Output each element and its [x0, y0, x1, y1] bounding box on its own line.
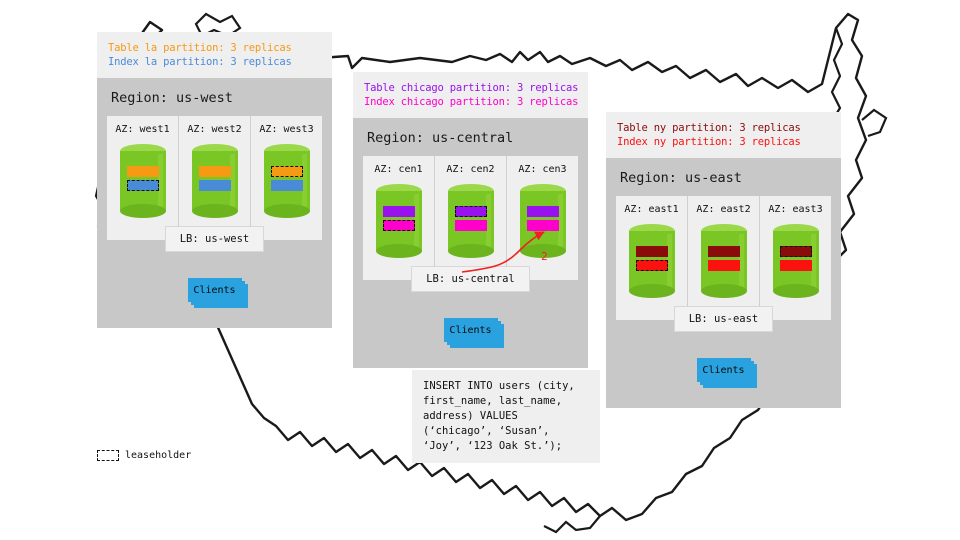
- replica-bar-table: [127, 166, 159, 177]
- replica-bar-index: [527, 220, 559, 231]
- az-label: AZ: east1: [624, 204, 678, 215]
- region-title: Region: us-east: [606, 158, 841, 196]
- replica-bar-index-leaseholder: [636, 260, 668, 271]
- region-body-us-west: Region: us-west AZ: west1 AZ: west2: [97, 78, 332, 328]
- cylinder-bottom: [629, 284, 675, 298]
- table-partition-line: Table chicago partition: 3 replicas: [364, 81, 577, 95]
- az-label: AZ: west1: [115, 124, 169, 135]
- az-cell-cen1[interactable]: AZ: cen1: [363, 156, 434, 280]
- cylinder-bottom: [773, 284, 819, 298]
- partition-header-us-east: Table ny partition: 3 replicas Index ny …: [606, 112, 841, 158]
- region-panel-us-central: Table chicago partition: 3 replicas Inde…: [353, 72, 588, 368]
- partition-header-us-west: Table la partition: 3 replicas Index la …: [97, 32, 332, 78]
- replica-bar-index: [271, 180, 303, 191]
- az-cell-east1[interactable]: AZ: east1: [616, 196, 687, 320]
- arrow-step-label-2: 2: [541, 250, 548, 263]
- region-panel-us-east: Table ny partition: 3 replicas Index ny …: [606, 112, 841, 408]
- dashed-rect-icon: [97, 450, 119, 461]
- clients-button-us-east[interactable]: Clients: [697, 358, 751, 382]
- az-label: AZ: east2: [696, 204, 750, 215]
- az-cell-cen2[interactable]: AZ: cen2: [434, 156, 506, 280]
- az-cell-east3[interactable]: AZ: east3: [759, 196, 831, 320]
- database-cylinder-cen2[interactable]: [448, 184, 494, 258]
- region-title: Region: us-west: [97, 78, 332, 116]
- az-label: AZ: west2: [187, 124, 241, 135]
- az-cell-west3[interactable]: AZ: west3: [250, 116, 322, 240]
- table-partition-line: Table ny partition: 3 replicas: [617, 121, 830, 135]
- az-label: AZ: cen2: [446, 164, 494, 175]
- az-row-us-east: AZ: east1 AZ: east2: [616, 196, 831, 320]
- sql-statement-box: INSERT INTO users (city, first_name, las…: [412, 370, 600, 463]
- replica-bar-index: [455, 220, 487, 231]
- replica-bar-table: [708, 246, 740, 257]
- clients-wrap-us-west: Clients: [97, 252, 332, 328]
- database-cylinder-west2[interactable]: [192, 144, 238, 218]
- cylinder-bottom: [448, 244, 494, 258]
- replica-bar-index-leaseholder: [127, 180, 159, 191]
- index-partition-line: Index chicago partition: 3 replicas: [364, 95, 577, 109]
- cylinder-bottom: [120, 204, 166, 218]
- cylinder-bottom: [376, 244, 422, 258]
- database-cylinder-west1[interactable]: [120, 144, 166, 218]
- replica-bar-index: [708, 260, 740, 271]
- load-balancer-us-central[interactable]: LB: us-central: [411, 266, 530, 292]
- replica-bar-table: [199, 166, 231, 177]
- legend-label: leaseholder: [125, 450, 191, 461]
- region-body-us-central: Region: us-central AZ: cen1 AZ: cen2: [353, 118, 588, 368]
- az-label: AZ: cen3: [518, 164, 566, 175]
- region-body-us-east: Region: us-east AZ: east1 AZ: east2: [606, 158, 841, 408]
- clients-wrap-us-east: Clients: [606, 332, 841, 408]
- database-cylinder-cen3[interactable]: [520, 184, 566, 258]
- database-cylinder-west3[interactable]: [264, 144, 310, 218]
- az-cell-east2[interactable]: AZ: east2: [687, 196, 759, 320]
- replica-bar-index: [780, 260, 812, 271]
- clients-label: Clients: [188, 278, 242, 302]
- clients-button-us-central[interactable]: Clients: [444, 318, 498, 342]
- database-cylinder-east1[interactable]: [629, 224, 675, 298]
- az-label: AZ: west3: [259, 124, 313, 135]
- database-cylinder-east2[interactable]: [701, 224, 747, 298]
- az-row-us-west: AZ: west1 AZ: west2: [107, 116, 322, 240]
- partition-header-us-central: Table chicago partition: 3 replicas Inde…: [353, 72, 588, 118]
- replica-bar-table: [527, 206, 559, 217]
- replica-bar-table-leaseholder: [455, 206, 487, 217]
- replica-bar-index-leaseholder: [383, 220, 415, 231]
- clients-label: Clients: [697, 358, 751, 382]
- az-label: AZ: cen1: [374, 164, 422, 175]
- cylinder-bottom: [701, 284, 747, 298]
- load-balancer-us-west[interactable]: LB: us-west: [165, 226, 265, 252]
- clients-label: Clients: [444, 318, 498, 342]
- replica-bar-table: [383, 206, 415, 217]
- database-cylinder-east3[interactable]: [773, 224, 819, 298]
- clients-wrap-us-central: Clients: [353, 292, 588, 368]
- index-partition-line: Index ny partition: 3 replicas: [617, 135, 830, 149]
- cylinder-bottom: [264, 204, 310, 218]
- region-title: Region: us-central: [353, 118, 588, 156]
- index-partition-line: Index la partition: 3 replicas: [108, 55, 321, 69]
- az-label: AZ: east3: [768, 204, 822, 215]
- az-cell-west2[interactable]: AZ: west2: [178, 116, 250, 240]
- database-cylinder-cen1[interactable]: [376, 184, 422, 258]
- table-partition-line: Table la partition: 3 replicas: [108, 41, 321, 55]
- az-cell-west1[interactable]: AZ: west1: [107, 116, 178, 240]
- region-panel-us-west: Table la partition: 3 replicas Index la …: [97, 32, 332, 328]
- legend-leaseholder: leaseholder: [97, 450, 191, 461]
- cylinder-bottom: [192, 204, 238, 218]
- replica-bar-table: [636, 246, 668, 257]
- load-balancer-us-east[interactable]: LB: us-east: [674, 306, 774, 332]
- replica-bar-index: [199, 180, 231, 191]
- replica-bar-table-leaseholder: [780, 246, 812, 257]
- replica-bar-table-leaseholder: [271, 166, 303, 177]
- clients-button-us-west[interactable]: Clients: [188, 278, 242, 302]
